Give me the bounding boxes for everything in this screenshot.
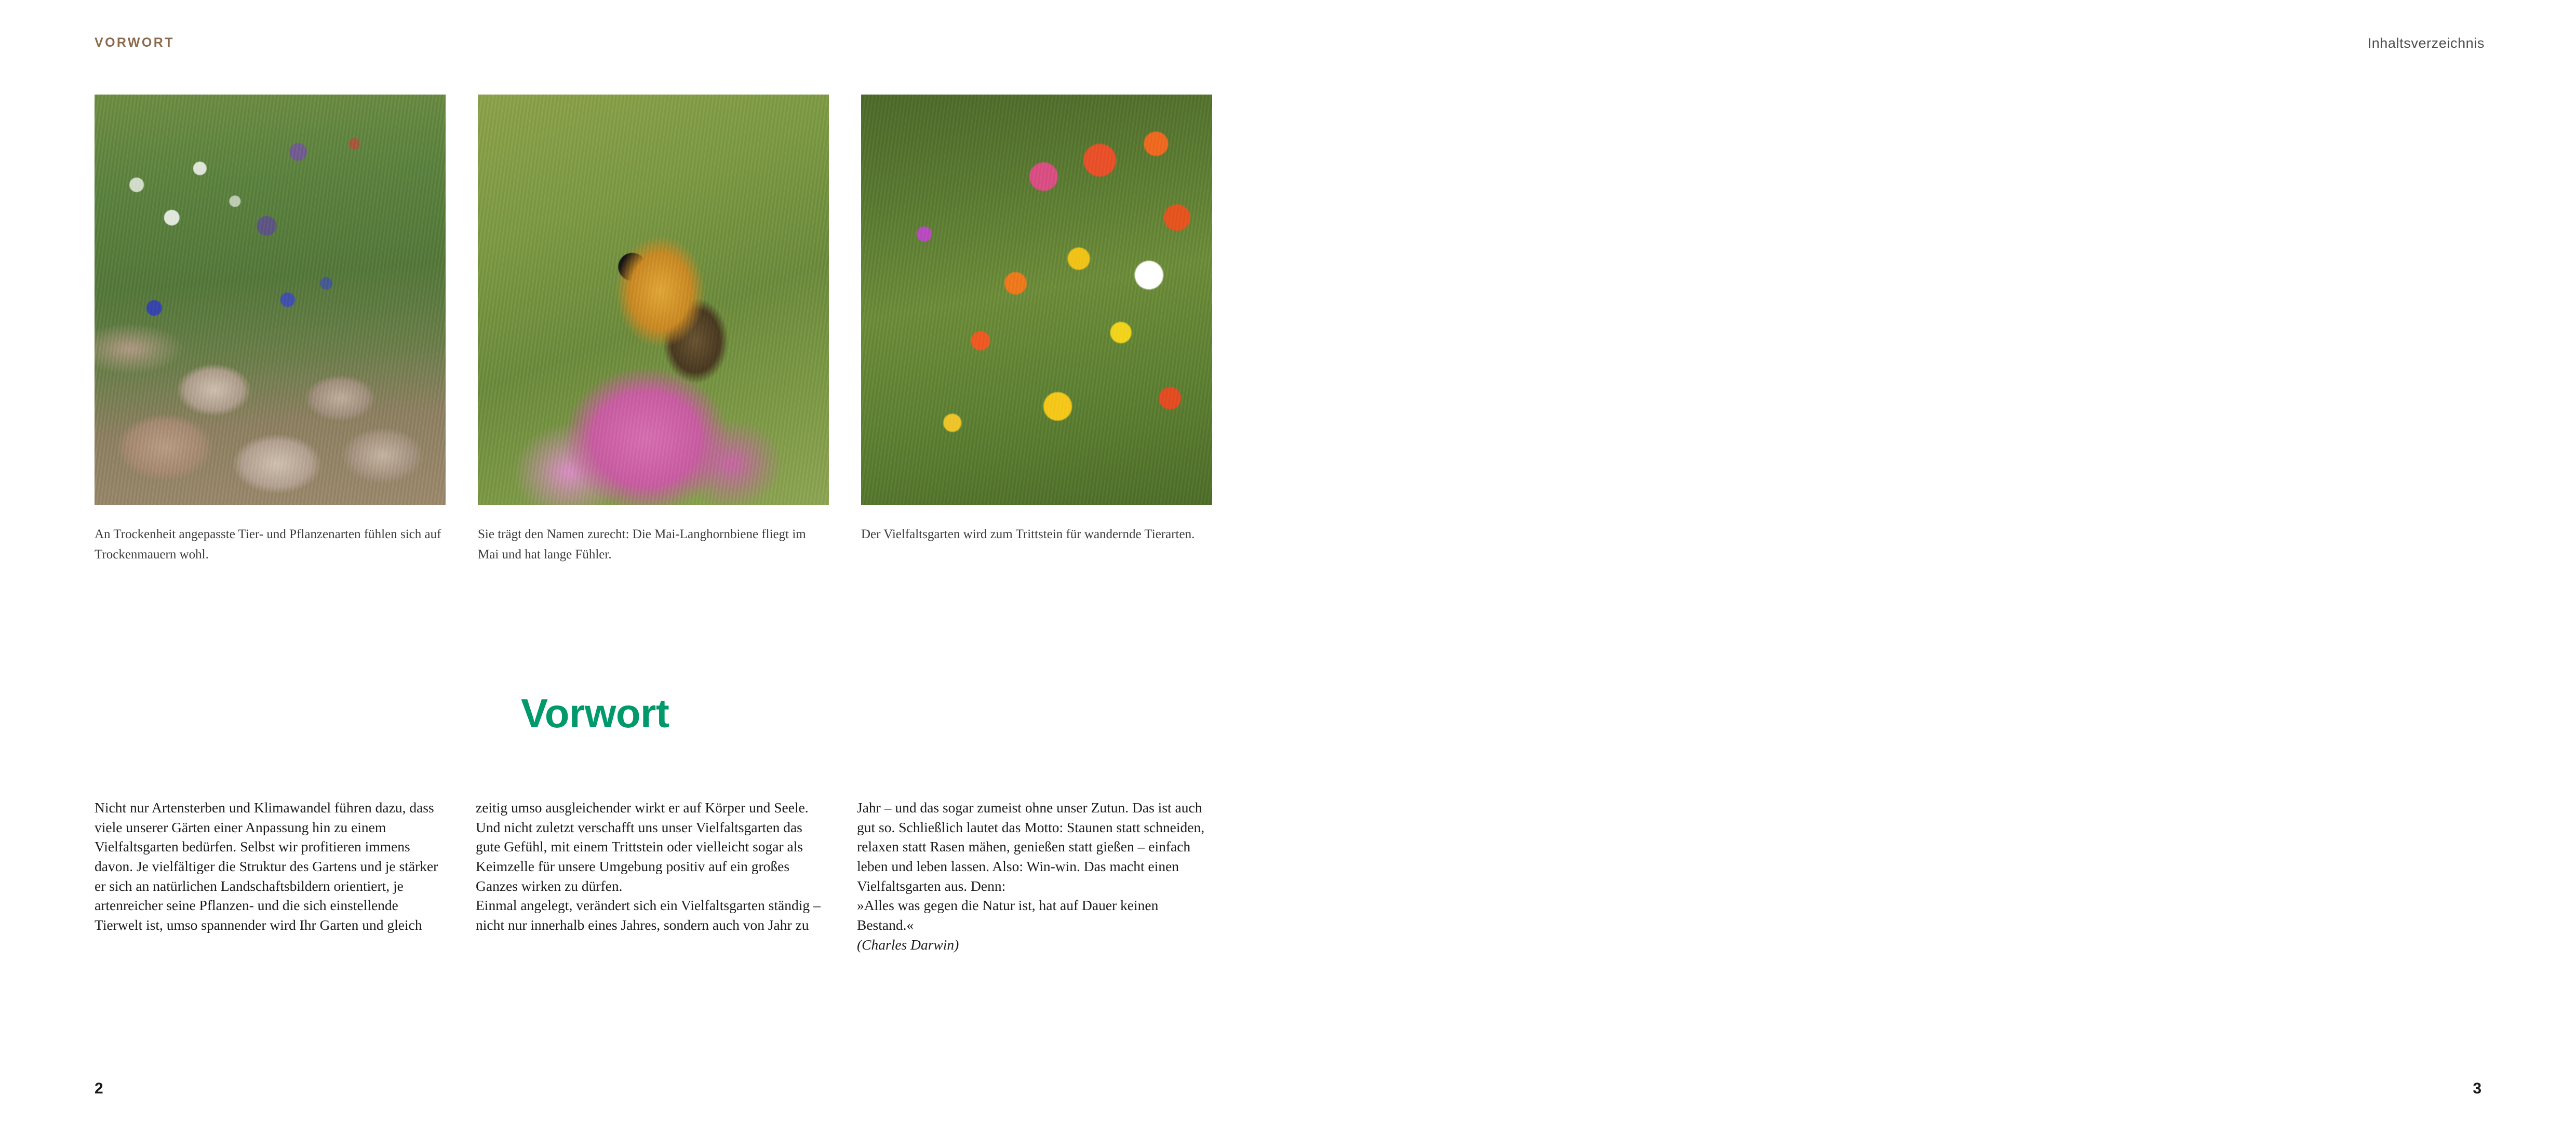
running-head-right: Inhaltsverzeichnis xyxy=(2368,35,2485,51)
page-number-right: 3 xyxy=(2473,1080,2481,1098)
vorwort-column-2: zeitig umso ausgleichender wirkt er auf … xyxy=(476,798,829,954)
photo-strip xyxy=(95,95,1212,505)
photo-mai-langhornbiene xyxy=(478,95,829,505)
vorwort-paragraph: Nicht nur Artensterben und Klimawandel f… xyxy=(95,798,448,935)
vorwort-heading: Vorwort xyxy=(521,690,669,737)
vorwort-paragraph: Jahr – und das sogar zumeist ohne unser … xyxy=(857,798,1210,896)
page-number-left: 2 xyxy=(95,1080,103,1098)
photo-captions: An Trockenheit angepasste Tier- und Pfla… xyxy=(95,525,1212,565)
vorwort-quote-attribution: (Charles Darwin) xyxy=(857,935,1210,955)
vorwort-paragraph: zeitig umso ausgleichender wirkt er auf … xyxy=(476,798,829,896)
vorwort-column-3: Jahr – und das sogar zumeist ohne unser … xyxy=(857,798,1210,954)
right-page: Inhaltsverzeichnis Inhalt Quickfinder 4 … xyxy=(1288,0,2576,1135)
book-spread: VORWORT An Trockenheit angepasste Tier- … xyxy=(0,0,2576,1135)
photo-caption: An Trockenheit angepasste Tier- und Pfla… xyxy=(95,525,446,565)
photo-dry-stone-wall-garden xyxy=(95,95,446,505)
photo-caption: Sie trägt den Namen zurecht: Die Mai-Lan… xyxy=(478,525,829,565)
photo-wildflower-meadow xyxy=(861,95,1212,505)
vorwort-columns: Nicht nur Artensterben und Klimawandel f… xyxy=(95,798,1212,954)
left-page: VORWORT An Trockenheit angepasste Tier- … xyxy=(0,0,1288,1135)
running-head-left: VORWORT xyxy=(95,35,175,50)
photo-caption: Der Vielfaltsgarten wird zum Trittstein … xyxy=(861,525,1212,565)
vorwort-column-1: Nicht nur Artensterben und Klimawandel f… xyxy=(95,798,448,954)
vorwort-quote: »Alles was gegen die Natur ist, hat auf … xyxy=(857,896,1210,934)
vorwort-paragraph: Einmal angelegt, verändert sich ein Viel… xyxy=(476,896,829,934)
